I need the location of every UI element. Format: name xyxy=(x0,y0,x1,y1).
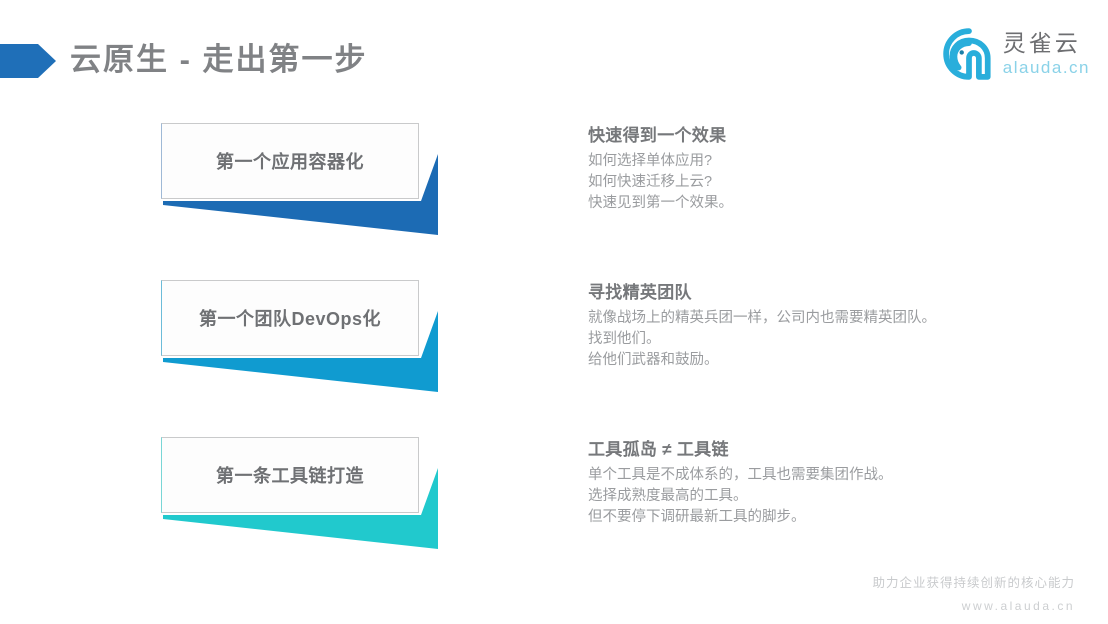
step-card-label: 第一个应用容器化 xyxy=(216,148,364,174)
step-description: 工具孤岛 ≠ 工具链 单个工具是不成体系的，工具也需要集团作战。 选择成熟度最高… xyxy=(588,435,1058,528)
description-title: 寻找精英团队 xyxy=(588,278,1058,303)
brand-logo: 灵雀云 alauda.cn xyxy=(943,28,1090,80)
step-card[interactable]: 第一条工具链打造 xyxy=(161,437,419,513)
description-title: 快速得到一个效果 xyxy=(588,121,1058,146)
page-title: 云原生 - 走出第一步 xyxy=(70,38,368,82)
description-line: 就像战场上的精英兵团一样，公司内也需要精英团队。 xyxy=(588,308,1058,329)
content-row: 第一条工具链打造 工具孤岛 ≠ 工具链 单个工具是不成体系的，工具也需要集团作战… xyxy=(0,427,1108,587)
alauda-bird-logo-icon xyxy=(943,28,995,80)
description-line: 给他们武器和鼓励。 xyxy=(588,350,1058,371)
step-card-area: 第一条工具链打造 xyxy=(150,427,450,562)
chevron-arrow-icon xyxy=(0,44,56,78)
description-line: 如何选择单体应用? xyxy=(588,151,1058,172)
description-line: 单个工具是不成体系的，工具也需要集团作战。 xyxy=(588,465,1058,486)
description-line: 找到他们。 xyxy=(588,329,1058,350)
content-row: 第一个应用容器化 快速得到一个效果 如何选择单体应用? 如何快速迁移上云? 快速… xyxy=(0,113,1108,273)
description-line: 快速见到第一个效果。 xyxy=(588,193,1058,214)
description-line: 但不要停下调研最新工具的脚步。 xyxy=(588,507,1058,528)
logo-name-cn: 灵雀云 xyxy=(1003,32,1081,55)
step-card[interactable]: 第一个团队DevOps化 xyxy=(161,280,419,356)
content-row: 第一个团队DevOps化 寻找精英团队 就像战场上的精英兵团一样，公司内也需要精… xyxy=(0,270,1108,430)
logo-text-group: 灵雀云 alauda.cn xyxy=(1003,32,1090,76)
step-card-label: 第一个团队DevOps化 xyxy=(199,305,381,331)
step-card-label: 第一条工具链打造 xyxy=(216,462,364,488)
step-description: 寻找精英团队 就像战场上的精英兵团一样，公司内也需要精英团队。 找到他们。 给他… xyxy=(588,278,1058,371)
footer-tagline: 助力企业获得持续创新的核心能力 xyxy=(872,572,1075,591)
footer-url: www.alauda.cn xyxy=(962,599,1075,613)
slide-canvas: 云原生 - 走出第一步 灵雀云 alauda.cn 第一个应用容器化 快速得到一… xyxy=(0,0,1108,624)
logo-name-en: alauda.cn xyxy=(1003,59,1090,76)
description-line: 如何快速迁移上云? xyxy=(588,172,1058,193)
description-title: 工具孤岛 ≠ 工具链 xyxy=(588,435,1058,460)
step-card[interactable]: 第一个应用容器化 xyxy=(161,123,419,199)
step-card-area: 第一个应用容器化 xyxy=(150,113,450,248)
description-line: 选择成熟度最高的工具。 xyxy=(588,486,1058,507)
step-card-area: 第一个团队DevOps化 xyxy=(150,270,450,405)
step-description: 快速得到一个效果 如何选择单体应用? 如何快速迁移上云? 快速见到第一个效果。 xyxy=(588,121,1058,214)
